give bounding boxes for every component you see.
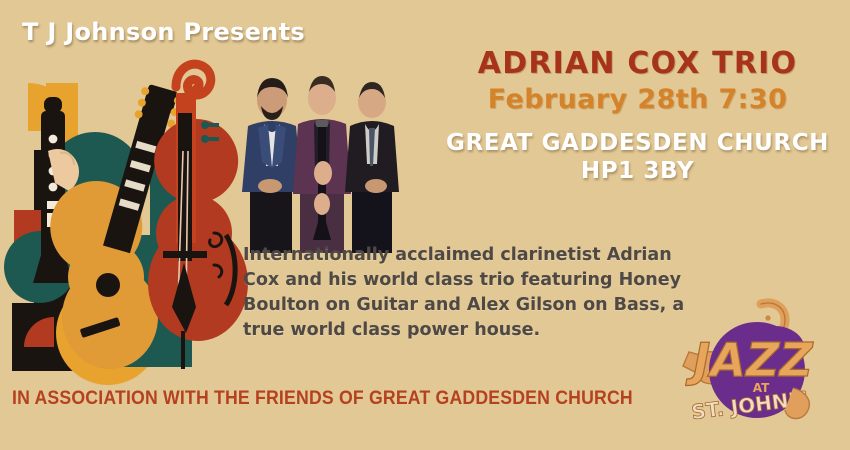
- event-poster: T J Johnson Presents: [0, 0, 850, 450]
- event-description: Internationally acclaimed clarinetist Ad…: [243, 243, 713, 342]
- band-member-right: [345, 82, 399, 253]
- band-member-center: [293, 76, 351, 253]
- headline-block: ADRIAN COX TRIO February 28th 7:30 GREAT…: [425, 48, 850, 185]
- venue-postcode: HP1 3BY: [425, 159, 850, 185]
- event-title: ADRIAN COX TRIO: [425, 48, 850, 80]
- presenter-line: T J Johnson Presents: [22, 18, 305, 46]
- venue-name: GREAT GADDESDEN CHURCH: [425, 131, 850, 157]
- jazz-at-st-johns-logo[interactable]: JAZZ AT ST. JOHN'S: [665, 292, 845, 447]
- logo-word-jazz: JAZZ: [685, 333, 814, 387]
- jazz-instruments-illustration: [0, 55, 250, 385]
- band-member-left: [242, 78, 302, 253]
- trio-band-photo: [228, 58, 413, 253]
- association-line: IN ASSOCIATION WITH THE FRIENDS OF GREAT…: [12, 388, 633, 410]
- event-date-time: February 28th 7:30: [425, 85, 850, 115]
